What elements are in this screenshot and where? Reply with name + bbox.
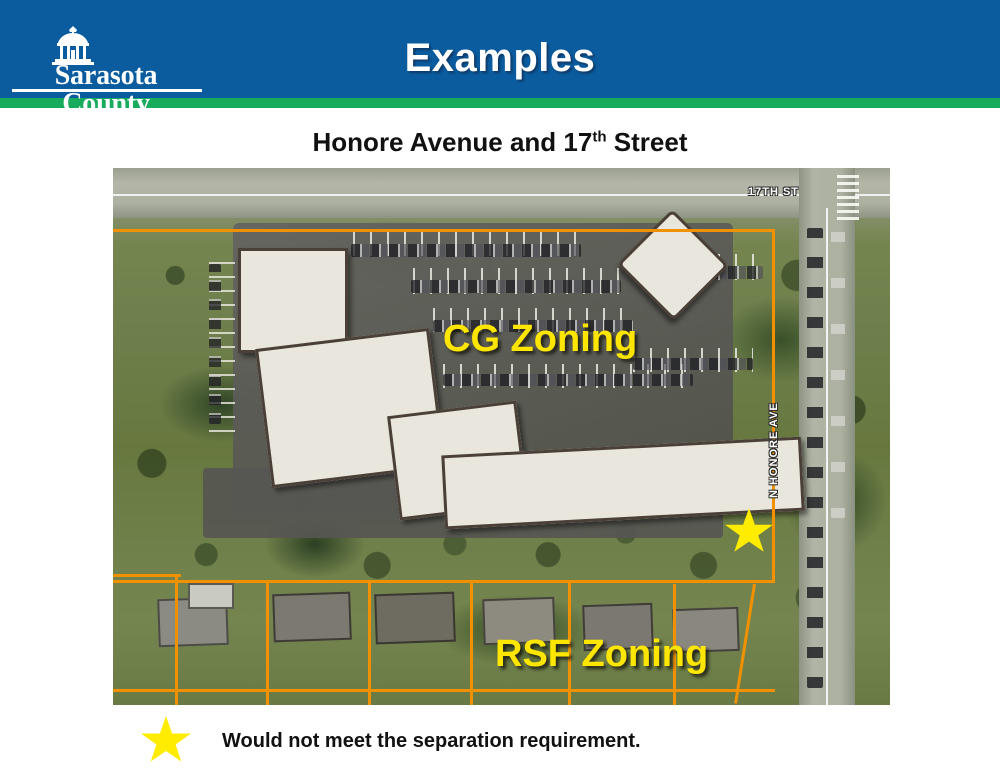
- honore-traffic-southbound: [831, 218, 845, 518]
- 17th-street-label: 17TH ST: [748, 186, 799, 198]
- parked-cars-row-6: [633, 358, 753, 370]
- parcel-boundary-lot-line-1: [175, 574, 178, 705]
- caption-text: Would not meet the separation requiremen…: [222, 730, 641, 753]
- parked-cars-row-2: [411, 280, 621, 293]
- parcel-boundary-lot-line-4: [470, 580, 473, 705]
- slide-subtitle: Honore Avenue and 17th Street: [0, 127, 1000, 158]
- parcel-boundary-lot-line-2: [266, 580, 269, 705]
- building-anchor-northwest: [238, 248, 348, 353]
- subtitle-prefix: Honore Avenue and 17: [313, 127, 593, 157]
- residence-pool-enclosure-1: [188, 583, 234, 609]
- parcel-boundary-lot-line-3: [368, 580, 371, 705]
- subtitle-ordinal-suffix: th: [592, 128, 606, 145]
- road-honore-centerline: [826, 208, 828, 705]
- honore-traffic-northbound: [807, 228, 823, 688]
- logo-underline: [12, 89, 202, 92]
- residence-roof-2: [272, 592, 352, 643]
- slide-canvas: Sarasota County Examples Honore Avenue a…: [0, 0, 1000, 772]
- rsf-zoning-label: RSF Zoning: [495, 633, 708, 676]
- parked-cars-row-4: [443, 374, 693, 386]
- page-title: Examples: [0, 36, 1000, 81]
- parcel-boundary-north: [113, 229, 775, 232]
- subtitle-suffix: Street: [607, 127, 688, 157]
- residence-roof-3: [374, 592, 456, 645]
- parcel-boundary-south: [113, 689, 775, 692]
- parcel-boundary-west-stub: [113, 574, 181, 577]
- crosswalk-markings: [837, 174, 859, 220]
- legend-caption: Would not meet the separation requiremen…: [140, 713, 860, 769]
- parked-cars-row-1: [351, 244, 581, 257]
- caption-star-icon: [140, 716, 192, 766]
- aerial-map-image: 17TH ST N HONORE AVE CG Zoning RSF Zonin…: [113, 168, 890, 705]
- n-honore-ave-label: N HONORE AVE: [768, 402, 780, 498]
- parked-cars-west-aisle: [209, 264, 221, 424]
- cg-zoning-label: CG Zoning: [443, 318, 637, 361]
- parcel-boundary-commercial-south: [113, 580, 775, 583]
